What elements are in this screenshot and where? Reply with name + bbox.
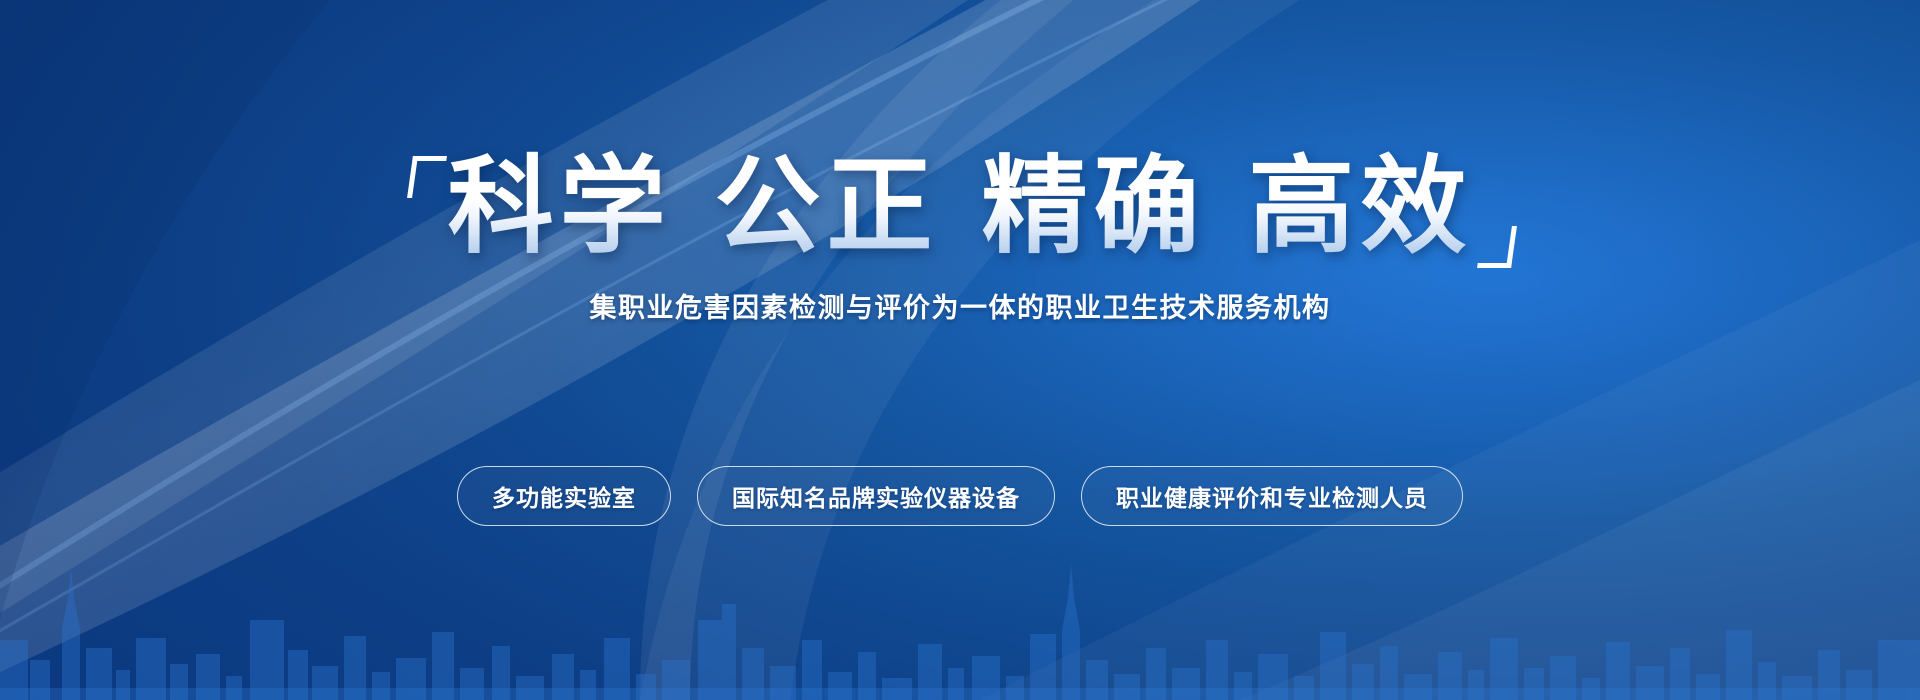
feature-pill-lab[interactable]: 多功能实验室 xyxy=(457,466,671,526)
page-title: 科学 公正 精确 高效 xyxy=(448,150,1473,264)
feature-pill-staff[interactable]: 职业健康评价和专业检测人员 xyxy=(1081,466,1463,526)
banner-content: 科学 公正 精确 高效 集职业危害因素检测与评价为一体的职业卫生技术服务机构 多… xyxy=(0,0,1920,700)
headline-wrap: 科学 公正 精确 高效 xyxy=(402,150,1519,264)
feature-pill-equipment[interactable]: 国际知名品牌实验仪器设备 xyxy=(697,466,1055,526)
page-subtitle: 集职业危害因素检测与评价为一体的职业卫生技术服务机构 xyxy=(590,286,1331,325)
promo-banner: 科学 公正 精确 高效 集职业危害因素检测与评价为一体的职业卫生技术服务机构 多… xyxy=(0,0,1920,700)
corner-bracket-open-icon xyxy=(407,156,447,198)
corner-bracket-close-icon xyxy=(1477,226,1517,268)
feature-pill-list: 多功能实验室 国际知名品牌实验仪器设备 职业健康评价和专业检测人员 xyxy=(0,466,1920,526)
headline-block: 科学 公正 精确 高效 集职业危害因素检测与评价为一体的职业卫生技术服务机构 xyxy=(0,150,1920,325)
